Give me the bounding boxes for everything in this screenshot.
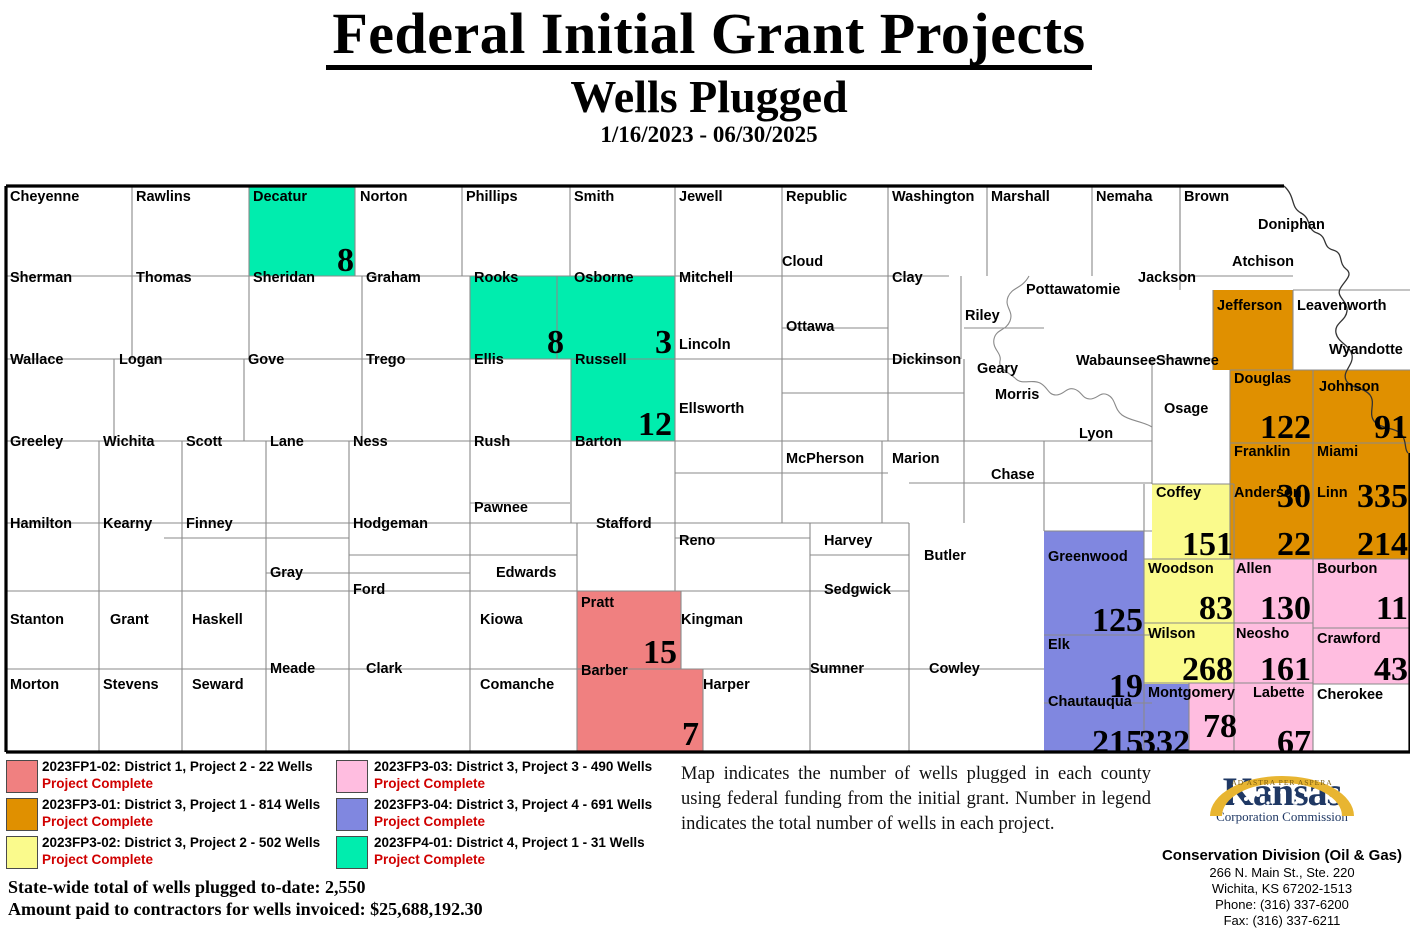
svg-text:Clay: Clay: [892, 270, 923, 286]
legend-swatch-fp3-03: [336, 760, 368, 793]
svg-text:Morton: Morton: [10, 677, 59, 693]
legend-item[interactable]: 2023FP4-01: District 4, Project 1 - 31 W…: [336, 834, 678, 870]
page-subtitle: Wells Plugged: [0, 74, 1418, 121]
legend-swatch-fp3-02: [6, 836, 38, 869]
svg-text:Ottawa: Ottawa: [786, 319, 835, 335]
value-bourbon: 11: [1376, 590, 1408, 627]
legend-label: 2023FP3-01: District 3, Project 1 - 814 …: [42, 796, 320, 813]
svg-text:Leavenworth: Leavenworth: [1297, 298, 1386, 314]
svg-text:Ness: Ness: [353, 434, 388, 450]
svg-text:Ford: Ford: [353, 582, 385, 598]
svg-text:Marion: Marion: [892, 451, 940, 467]
svg-text:Geary: Geary: [977, 361, 1018, 377]
svg-text:Washington: Washington: [892, 189, 974, 205]
svg-text:Brown: Brown: [1184, 189, 1229, 205]
svg-text:Reno: Reno: [679, 533, 715, 549]
legend-item[interactable]: 2023FP1-02: District 1, Project 2 - 22 W…: [6, 758, 336, 794]
value-decatur: 8: [337, 242, 354, 279]
svg-text:Stanton: Stanton: [10, 612, 64, 628]
svg-text:Doniphan: Doniphan: [1258, 217, 1325, 233]
svg-text:Trego: Trego: [366, 352, 406, 368]
svg-text:Lincoln: Lincoln: [679, 337, 731, 353]
legend-label: 2023FP3-02: District 3, Project 2 - 502 …: [42, 834, 320, 851]
svg-text:Mitchell: Mitchell: [679, 270, 733, 286]
svg-text:Osborne: Osborne: [574, 270, 634, 286]
svg-text:Kingman: Kingman: [681, 612, 743, 628]
svg-text:Republic: Republic: [786, 189, 847, 205]
value-wilson: 268: [1182, 651, 1233, 688]
svg-text:Riley: Riley: [965, 308, 1000, 324]
value-coffey: 151: [1182, 526, 1233, 563]
value-allen: 130: [1260, 590, 1311, 627]
svg-text:Johnson: Johnson: [1319, 379, 1379, 395]
total-wells-line: State-wide total of wells plugged to-dat…: [8, 876, 483, 898]
value-franklin: 30: [1277, 478, 1311, 515]
svg-text:Coffey: Coffey: [1156, 485, 1201, 501]
svg-text:Decatur: Decatur: [253, 189, 307, 205]
value-johnson: 91: [1374, 409, 1408, 446]
svg-text:Woodson: Woodson: [1148, 561, 1214, 577]
legend-swatch-fp3-01: [6, 798, 38, 831]
svg-text:Rooks: Rooks: [474, 270, 518, 286]
svg-text:Pottawatomie: Pottawatomie: [1026, 282, 1120, 298]
legend-status: Project Complete: [42, 851, 153, 868]
svg-text:Ellis: Ellis: [474, 352, 504, 368]
value-montgomery-west: 332: [1139, 724, 1190, 755]
svg-text:Chase: Chase: [991, 467, 1035, 483]
svg-text:Allen: Allen: [1236, 561, 1271, 577]
svg-text:Hamilton: Hamilton: [10, 516, 72, 532]
legend-status: Project Complete: [374, 851, 485, 868]
value-linn: 214: [1357, 526, 1408, 563]
svg-text:Phillips: Phillips: [466, 189, 518, 205]
legend-status: Project Complete: [374, 813, 485, 830]
svg-text:Lyon: Lyon: [1079, 426, 1113, 442]
svg-text:Cowley: Cowley: [929, 661, 980, 677]
page-header: Federal Initial Grant Projects Wells Plu…: [0, 0, 1418, 147]
svg-text:McPherson: McPherson: [786, 451, 864, 467]
svg-text:Edwards: Edwards: [496, 565, 556, 581]
svg-text:Harvey: Harvey: [824, 533, 872, 549]
svg-text:Osage: Osage: [1164, 401, 1208, 417]
kansas-county-map: CheyenneRawlins DecaturNorton PhillipsSm…: [4, 183, 1410, 755]
svg-text:Kearny: Kearny: [103, 516, 152, 532]
svg-text:Kiowa: Kiowa: [480, 612, 524, 628]
county-labels: CheyenneRawlins DecaturNorton PhillipsSm…: [10, 189, 1403, 710]
svg-text:Rawlins: Rawlins: [136, 189, 191, 205]
legend-column-left: 2023FP1-02: District 1, Project 2 - 22 W…: [6, 758, 336, 872]
svg-text:Jewell: Jewell: [679, 189, 723, 205]
svg-text:Douglas: Douglas: [1234, 371, 1291, 387]
svg-text:Cheyenne: Cheyenne: [10, 189, 79, 205]
svg-text:Comanche: Comanche: [480, 677, 554, 693]
kansas-river-border: [994, 276, 1152, 427]
value-miami: 335: [1357, 478, 1408, 515]
svg-text:Shawnee: Shawnee: [1156, 353, 1219, 369]
svg-text:Elk: Elk: [1048, 637, 1071, 653]
legend-status: Project Complete: [374, 775, 485, 792]
svg-text:Wichita: Wichita: [103, 434, 155, 450]
fax-line: Fax: (316) 337-6211: [1150, 913, 1414, 929]
svg-text:Clark: Clark: [366, 661, 403, 677]
value-rooks: 8: [547, 324, 564, 361]
svg-text:Butler: Butler: [924, 548, 966, 564]
svg-text:Franklin: Franklin: [1234, 444, 1290, 460]
svg-text:Graham: Graham: [366, 270, 421, 286]
svg-text:Bourbon: Bourbon: [1317, 561, 1377, 577]
svg-text:Greenwood: Greenwood: [1048, 549, 1128, 565]
svg-text:Wallace: Wallace: [10, 352, 63, 368]
legend-label: 2023FP4-01: District 4, Project 1 - 31 W…: [374, 834, 645, 851]
value-neosho: 161: [1260, 651, 1311, 688]
svg-text:Meade: Meade: [270, 661, 315, 677]
legend-column-right: 2023FP3-03: District 3, Project 3 - 490 …: [336, 758, 678, 872]
svg-text:Gove: Gove: [248, 352, 284, 368]
svg-text:Cherokee: Cherokee: [1317, 687, 1383, 703]
svg-text:Logan: Logan: [119, 352, 163, 368]
total-paid-line: Amount paid to contractors for wells inv…: [8, 898, 483, 920]
svg-text:Haskell: Haskell: [192, 612, 243, 628]
legend: 2023FP1-02: District 1, Project 2 - 22 W…: [6, 758, 678, 870]
value-elk: 19: [1109, 668, 1143, 705]
svg-text:Wyandotte: Wyandotte: [1329, 342, 1403, 358]
svg-text:Crawford: Crawford: [1317, 631, 1381, 647]
legend-status: Project Complete: [42, 813, 153, 830]
value-labette: 67: [1277, 724, 1311, 755]
svg-text:Cloud: Cloud: [782, 254, 823, 270]
value-osborne: 3: [655, 324, 672, 361]
kansas-motto: AD ASTRA PER ASPERA: [1231, 778, 1332, 787]
value-greenwood: 125: [1092, 602, 1143, 639]
value-russell: 12: [638, 406, 672, 443]
legend-swatch-fp3-04: [336, 798, 368, 831]
value-barber: 7: [682, 716, 699, 753]
svg-text:Dickinson: Dickinson: [892, 352, 961, 368]
svg-text:Seward: Seward: [192, 677, 244, 693]
legend-label: 2023FP3-04: District 3, Project 4 - 691 …: [374, 796, 652, 813]
svg-text:Barber: Barber: [581, 663, 628, 679]
value-anderson: 22: [1277, 526, 1311, 563]
svg-text:Sedgwick: Sedgwick: [824, 582, 892, 598]
svg-text:Pratt: Pratt: [581, 595, 614, 611]
svg-text:Barton: Barton: [575, 434, 622, 450]
value-douglas: 122: [1260, 409, 1311, 446]
kansas-seal-arc-icon: AD ASTRA PER ASPERA: [1192, 772, 1372, 818]
svg-text:Gray: Gray: [270, 565, 303, 581]
legend-swatch-fp1-02: [6, 760, 38, 793]
svg-text:Lane: Lane: [270, 434, 304, 450]
svg-text:Sherman: Sherman: [10, 270, 72, 286]
value-woodson: 83: [1199, 590, 1233, 627]
svg-text:Hodgeman: Hodgeman: [353, 516, 428, 532]
value-montgomery-east: 78: [1203, 708, 1237, 745]
svg-text:Smith: Smith: [574, 189, 614, 205]
svg-text:Pawnee: Pawnee: [474, 500, 528, 516]
svg-text:Linn: Linn: [1317, 485, 1348, 501]
svg-text:Nemaha: Nemaha: [1096, 189, 1153, 205]
legend-item[interactable]: 2023FP3-01: District 3, Project 1 - 814 …: [6, 796, 336, 832]
svg-text:Rush: Rush: [474, 434, 510, 450]
svg-text:Harper: Harper: [703, 677, 750, 693]
svg-text:Morris: Morris: [995, 387, 1039, 403]
svg-text:Sumner: Sumner: [810, 661, 864, 677]
date-range: 1/16/2023 - 06/30/2025: [0, 122, 1418, 147]
legend-status: Project Complete: [42, 775, 153, 792]
division-label: Conservation Division (Oil & Gas): [1150, 847, 1414, 865]
svg-text:Russell: Russell: [575, 352, 627, 368]
svg-text:Finney: Finney: [186, 516, 233, 532]
svg-text:Ellsworth: Ellsworth: [679, 401, 744, 417]
svg-text:Grant: Grant: [110, 612, 149, 628]
map-note: Map indicates the number of wells plugge…: [681, 762, 1151, 837]
svg-text:Wilson: Wilson: [1148, 626, 1195, 642]
svg-text:Jefferson: Jefferson: [1217, 298, 1282, 314]
svg-text:Stafford: Stafford: [596, 516, 652, 532]
svg-text:Sheridan: Sheridan: [253, 270, 315, 286]
svg-text:Norton: Norton: [360, 189, 408, 205]
svg-text:Miami: Miami: [1317, 444, 1358, 460]
svg-text:Jackson: Jackson: [1138, 270, 1196, 286]
phone-line: Phone: (316) 337-6200: [1150, 897, 1414, 913]
kcc-block: AD ASTRA PER ASPERA Kansas Corporation C…: [1150, 758, 1414, 929]
legend-label: 2023FP1-02: District 1, Project 2 - 22 W…: [42, 758, 313, 775]
svg-text:Greeley: Greeley: [10, 434, 63, 450]
legend-swatch-fp4-01: [336, 836, 368, 869]
totals-block: State-wide total of wells plugged to-dat…: [8, 876, 483, 920]
legend-item[interactable]: 2023FP3-04: District 3, Project 4 - 691 …: [336, 796, 678, 832]
address-line-1: 266 N. Main St., Ste. 220: [1150, 865, 1414, 881]
county-fill-rooks: [470, 276, 557, 359]
address-line-2: Wichita, KS 67202-1513: [1150, 881, 1414, 897]
svg-text:Marshall: Marshall: [991, 189, 1050, 205]
svg-text:Neosho: Neosho: [1236, 626, 1289, 642]
svg-text:Atchison: Atchison: [1232, 254, 1294, 270]
value-crawford: 43: [1374, 651, 1408, 688]
page-title: Federal Initial Grant Projects: [326, 4, 1091, 70]
legend-item[interactable]: 2023FP3-03: District 3, Project 3 - 490 …: [336, 758, 678, 794]
svg-text:Wabaunsee: Wabaunsee: [1076, 353, 1156, 369]
svg-text:Thomas: Thomas: [136, 270, 192, 286]
value-chautauqua: 215: [1092, 724, 1143, 755]
kansas-logo: AD ASTRA PER ASPERA Kansas Corporation C…: [1150, 772, 1414, 844]
svg-text:Stevens: Stevens: [103, 677, 159, 693]
value-pratt: 15: [643, 634, 677, 671]
legend-item[interactable]: 2023FP3-02: District 3, Project 2 - 502 …: [6, 834, 336, 870]
svg-text:Scott: Scott: [186, 434, 222, 450]
legend-label: 2023FP3-03: District 3, Project 3 - 490 …: [374, 758, 652, 775]
